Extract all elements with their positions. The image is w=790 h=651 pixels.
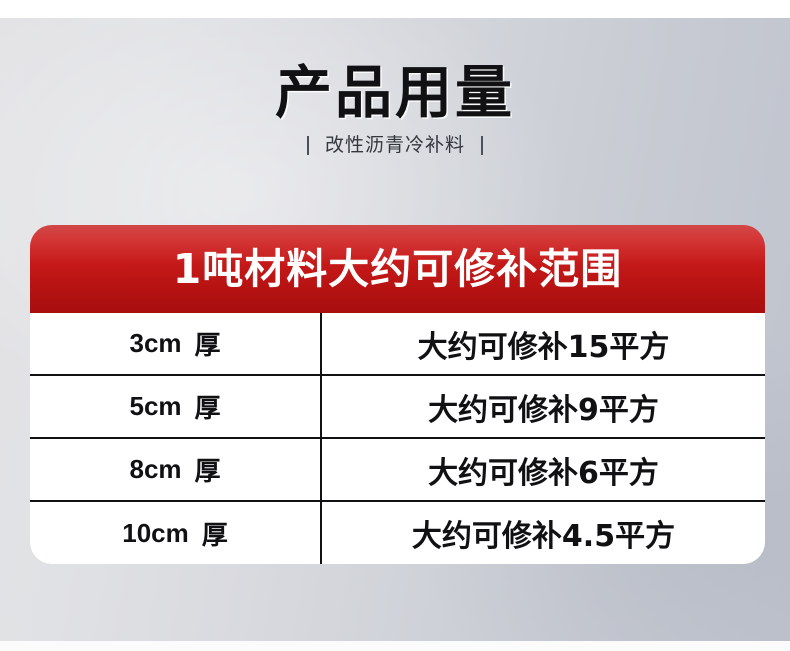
page-subtitle: 改性沥青冷补料 bbox=[325, 134, 465, 156]
thickness-word: 厚 bbox=[202, 515, 228, 552]
thickness-word: 厚 bbox=[195, 388, 221, 425]
table-row: 3cm厚 大约可修补15平方 bbox=[30, 313, 765, 376]
coverage-cell: 大约可修补6平方 bbox=[322, 439, 765, 500]
coverage-table: 3cm厚 大约可修补15平方 5cm厚 大约可修补9平方 8cm厚 大约可修补6… bbox=[30, 313, 765, 564]
thickness-unit: cm bbox=[144, 454, 182, 485]
thickness-word: 厚 bbox=[195, 325, 221, 362]
coverage-banner-title: 1吨材料大约可修补范围 bbox=[173, 246, 623, 292]
coverage-banner: 1吨材料大约可修补范围 bbox=[30, 225, 765, 313]
table-row: 8cm厚 大约可修补6平方 bbox=[30, 439, 765, 502]
thickness-cell: 5cm厚 bbox=[30, 376, 322, 437]
thickness-value: 3 bbox=[129, 328, 143, 359]
thickness-cell: 8cm厚 bbox=[30, 439, 322, 500]
page-title: 产品用量 bbox=[0, 62, 790, 124]
coverage-card: 1吨材料大约可修补范围 3cm厚 大约可修补15平方 5cm厚 大约可修补9平方… bbox=[30, 225, 765, 564]
table-row: 5cm厚 大约可修补9平方 bbox=[30, 376, 765, 439]
subtitle-left-bar-icon bbox=[307, 136, 309, 155]
coverage-cell: 大约可修补9平方 bbox=[322, 376, 765, 437]
thickness-word: 厚 bbox=[195, 451, 221, 488]
subtitle-right-bar-icon bbox=[481, 136, 483, 155]
thickness-value: 5 bbox=[129, 391, 143, 422]
thickness-cell: 3cm厚 bbox=[30, 313, 322, 374]
product-usage-infographic: 产品用量 改性沥青冷补料 1吨材料大约可修补范围 3cm厚 大约可修补15平方 … bbox=[0, 0, 790, 651]
table-row: 10cm厚 大约可修补4.5平方 bbox=[30, 502, 765, 564]
thickness-unit: cm bbox=[144, 391, 182, 422]
thickness-unit: cm bbox=[144, 328, 182, 359]
thickness-cell: 10cm厚 bbox=[30, 502, 322, 564]
coverage-cell: 大约可修补4.5平方 bbox=[322, 502, 765, 564]
subtitle-row: 改性沥青冷补料 bbox=[0, 134, 790, 156]
top-white-strip bbox=[0, 0, 790, 18]
thickness-value: 10 bbox=[122, 518, 151, 549]
bottom-white-strip bbox=[0, 641, 790, 651]
thickness-value: 8 bbox=[129, 454, 143, 485]
thickness-unit: cm bbox=[151, 518, 189, 549]
heading-block: 产品用量 改性沥青冷补料 bbox=[0, 62, 790, 156]
coverage-cell: 大约可修补15平方 bbox=[322, 313, 765, 374]
